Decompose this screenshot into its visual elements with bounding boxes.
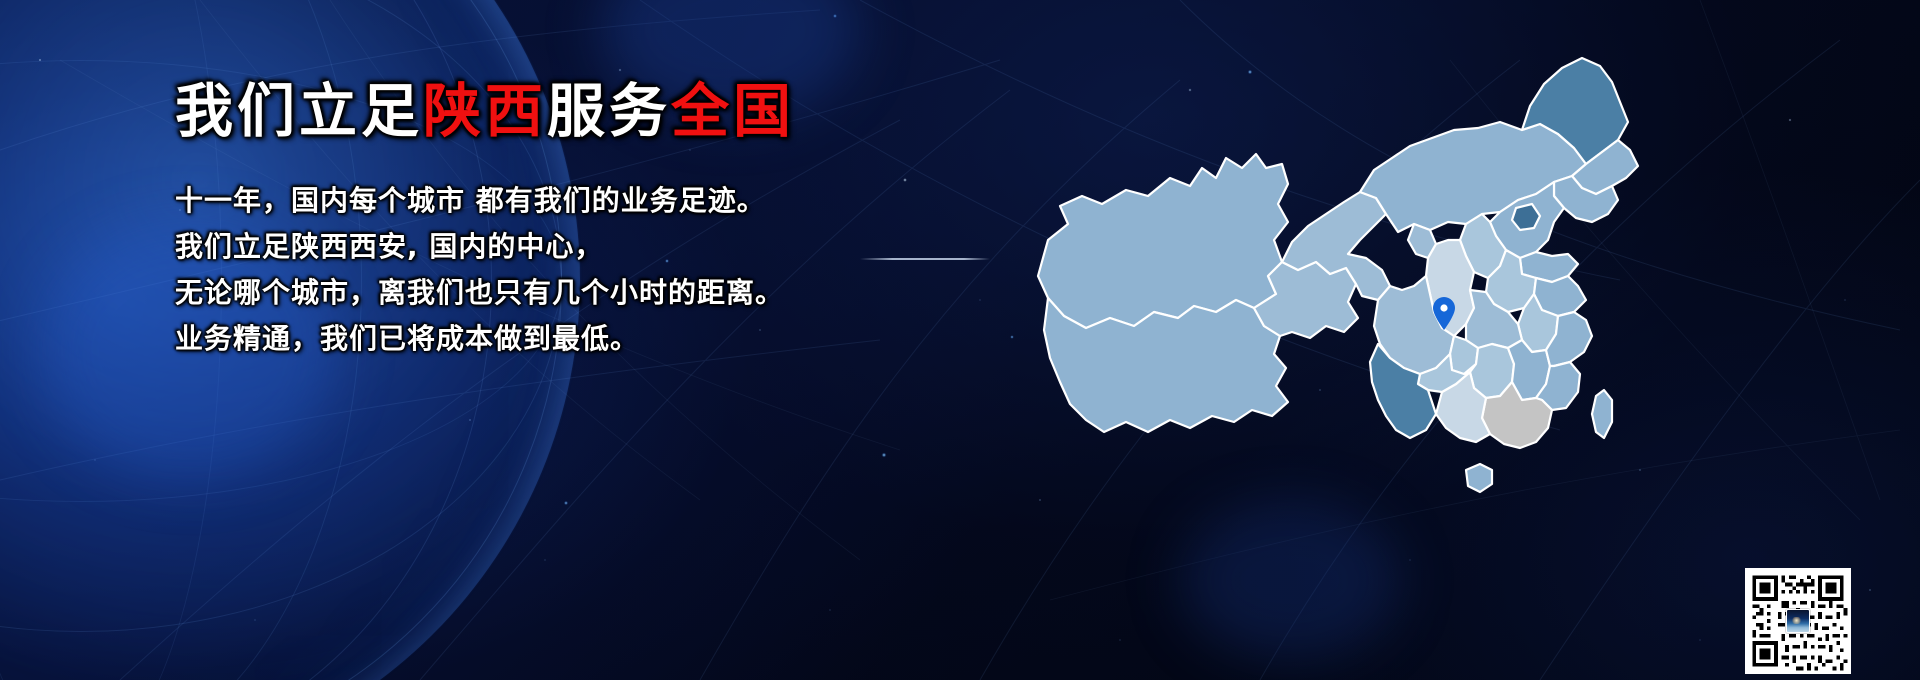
body-line-3: 无论哪个城市，离我们也只有几个小时的距离。	[175, 270, 795, 316]
promo-banner: 我们立足陕西服务全国 十一年，国内每个城市 都有我们的业务足迹。 我们立足陕西西…	[0, 0, 1920, 680]
headline-segment-4-nationwide: 全国	[671, 77, 795, 145]
page-title: 我们立足陕西服务全国	[175, 82, 795, 140]
wechat-qr-code[interactable]	[1745, 568, 1851, 674]
map-region-taiwan[interactable]	[1592, 390, 1612, 438]
map-region-xinjiang[interactable]	[1038, 154, 1288, 328]
headline-segment-1: 我们立足	[175, 77, 423, 145]
china-map	[1030, 18, 1650, 578]
body-copy: 十一年，国内每个城市 都有我们的业务足迹。 我们立足陕西西安, 国内的中心， 无…	[175, 178, 795, 362]
headline-segment-3: 服务	[547, 77, 671, 145]
qr-center-logo	[1786, 609, 1810, 633]
map-region-beijing[interactable]	[1512, 204, 1540, 230]
body-line-1: 十一年，国内每个城市 都有我们的业务足迹。	[175, 178, 795, 224]
body-line-2: 我们立足陕西西安, 国内的中心，	[175, 224, 795, 270]
map-region-hainan[interactable]	[1466, 464, 1492, 492]
body-line-4: 业务精通，我们已将成本做到最低。	[175, 316, 795, 362]
map-region-qinghai[interactable]	[1254, 262, 1358, 338]
headline-text-block: 我们立足陕西服务全国 十一年，国内每个城市 都有我们的业务足迹。 我们立足陕西西…	[175, 82, 795, 362]
headline-segment-2-shaanxi: 陕西	[423, 77, 547, 145]
divider-rule	[860, 258, 990, 260]
